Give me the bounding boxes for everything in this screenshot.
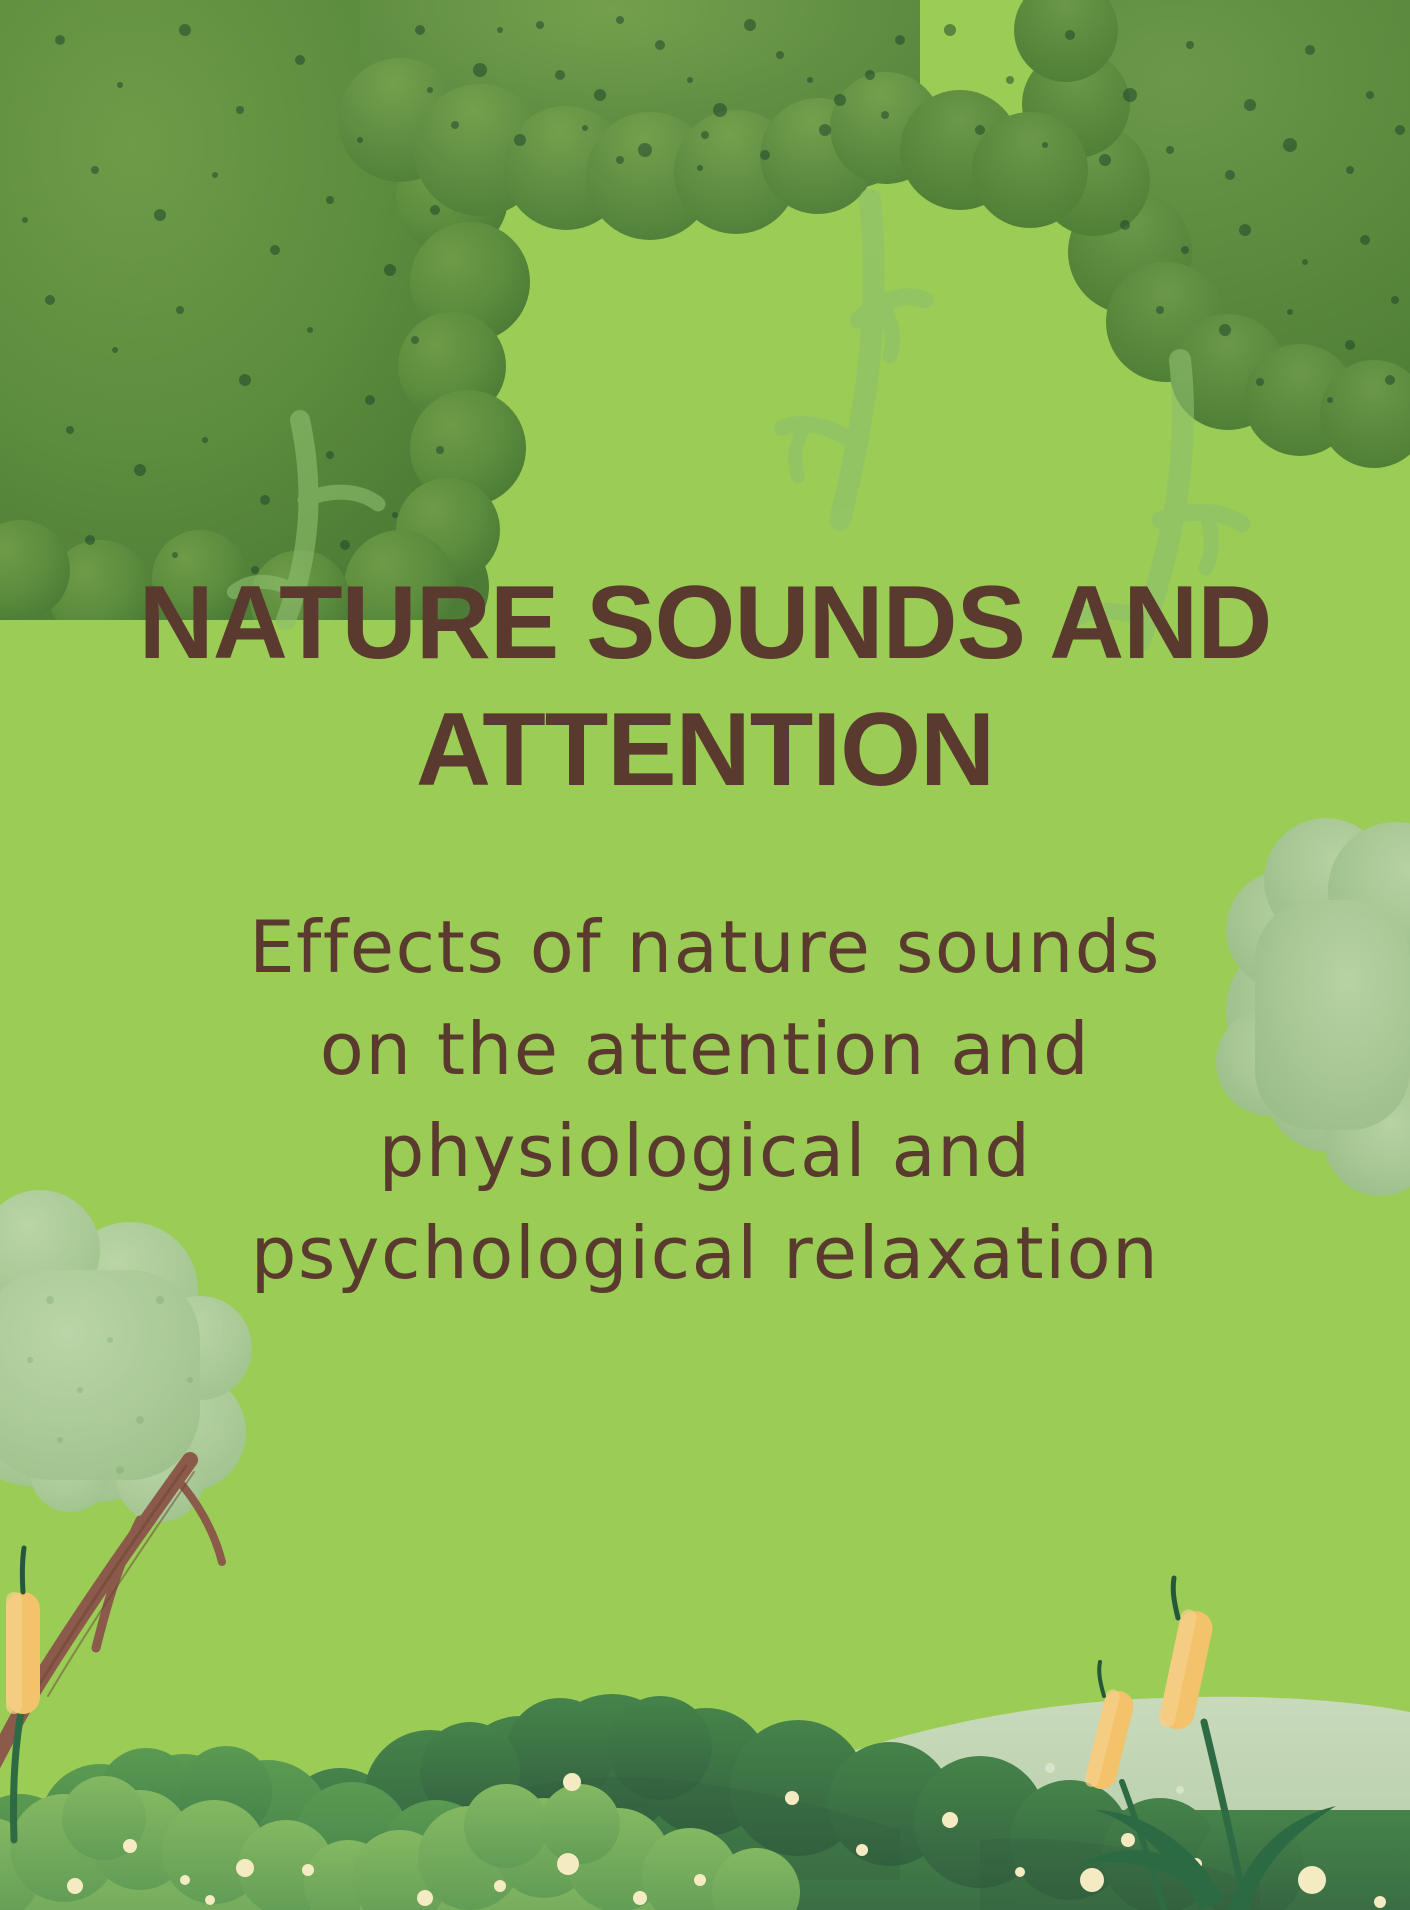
page-title: NATURE SOUNDS AND ATTENTION xyxy=(58,560,1352,814)
page-subtitle: Effects of nature sounds on the attentio… xyxy=(40,896,1370,1305)
page-subtitle-line-3: physiological and xyxy=(379,1109,1032,1193)
page-subtitle-line-1: Effects of nature sounds xyxy=(249,905,1161,989)
page-subtitle-line-4: psychological relaxation xyxy=(251,1211,1160,1295)
page-subtitle-line-2: on the attention and xyxy=(320,1007,1090,1091)
page-title-line-2: ATTENTION xyxy=(416,692,994,808)
poster-canvas: NATURE SOUNDS AND ATTENTION Effects of n… xyxy=(0,0,1410,1910)
poster-text-block: NATURE SOUNDS AND ATTENTION Effects of n… xyxy=(0,560,1410,1305)
page-title-line-1: NATURE SOUNDS AND xyxy=(139,565,1272,681)
